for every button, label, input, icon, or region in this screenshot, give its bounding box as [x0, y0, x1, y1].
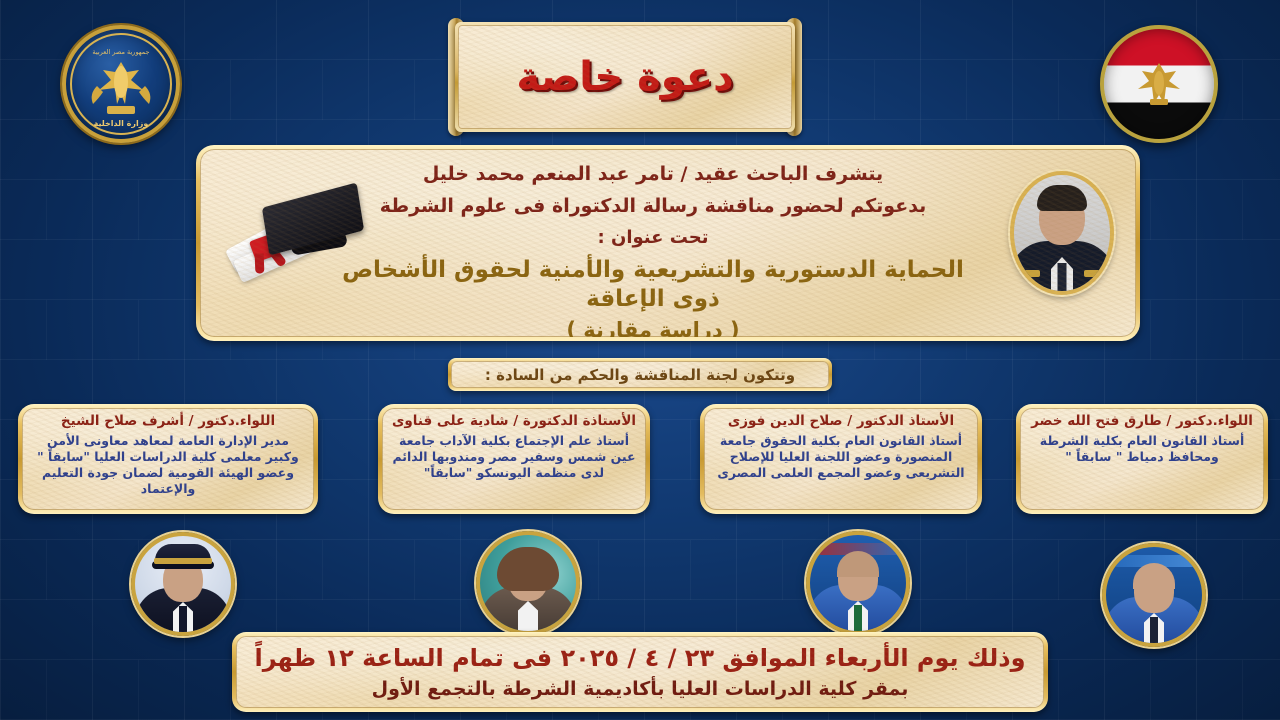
member-role: أستاذ القانون العام بكلية الشرطة ومحافظ … — [1028, 433, 1256, 465]
invitation-poster: جمهورية مصر العربية وزارة الداخلية دعوة … — [0, 0, 1280, 720]
saladin-eagle-icon — [1124, 49, 1194, 119]
committee-header-text: وتتكون لجنة المناقشة والحكم من السادة : — [485, 366, 795, 384]
invite-line-researcher: يتشرف الباحث عقيد / تامر عبد المنعم محمد… — [320, 163, 986, 187]
member-role: أستاذ علم الإجتماع بكلية الآداب جامعة عي… — [390, 433, 638, 481]
committee-header-banner: وتتكون لجنة المناقشة والحكم من السادة : — [448, 358, 832, 391]
member-portrait — [476, 531, 580, 635]
invite-line-purpose: بدعوتكم لحضور مناقشة رسالة الدكتوراة فى … — [320, 195, 986, 219]
event-date-text: وذلك يوم الأربعاء الموافق ٢٣ / ٤ / ٢٠٢٥ … — [254, 644, 1025, 672]
member-name: اللواء.دكتور / طارق فتح الله خضر — [1028, 414, 1256, 430]
event-venue-text: بمقر كلية الدراسات العليا بأكاديمية الشر… — [372, 678, 909, 700]
egypt-flag-badge — [1100, 25, 1218, 143]
member-portrait — [131, 532, 235, 636]
invite-line-under-title: تحت عنوان : — [320, 227, 986, 250]
graduation-cap-diploma-icon — [218, 185, 368, 305]
page-title: دعوة خاصة — [516, 54, 733, 100]
member-role: مدير الإدارة العامة لمعاهد معاونى الأمن … — [30, 433, 306, 497]
invitation-main-panel: يتشرف الباحث عقيد / تامر عبد المنعم محمد… — [196, 145, 1140, 341]
committee-member-card: الأستاذة الدكتورة / شادية على قناوى أستا… — [378, 404, 650, 514]
member-role: أستاذ القانون العام بكلية الحقوق جامعة ا… — [712, 433, 970, 481]
committee-member-card: اللواء.دكتور / طارق فتح الله خضر أستاذ ا… — [1016, 404, 1268, 514]
member-portrait — [806, 531, 910, 635]
researcher-portrait — [1010, 171, 1114, 295]
thesis-subtitle: ( دراسة مقارنة ) — [320, 317, 986, 338]
thesis-title: الحماية الدستورية والتشريعية والأمنية لح… — [320, 256, 986, 314]
member-name: اللواء.دكتور / أشرف صلاح الشيخ — [30, 414, 306, 430]
committee-member-card: الأستاذ الدكتور / صلاح الدين فوزى أستاذ … — [700, 404, 982, 514]
emblem-top-caption: جمهورية مصر العربية — [92, 48, 149, 56]
emblem-bottom-caption: وزارة الداخلية — [94, 119, 149, 128]
eagle-icon: جمهورية مصر العربية وزارة الداخلية — [69, 32, 173, 136]
member-name: الأستاذة الدكتورة / شادية على قناوى — [390, 414, 638, 430]
event-date-banner: وذلك يوم الأربعاء الموافق ٢٣ / ٤ / ٢٠٢٥ … — [232, 632, 1048, 712]
title-banner: دعوة خاصة — [455, 22, 795, 132]
committee-member-card: اللواء.دكتور / أشرف صلاح الشيخ مدير الإد… — [18, 404, 318, 514]
member-name: الأستاذ الدكتور / صلاح الدين فوزى — [712, 414, 970, 430]
ministry-of-interior-emblem: جمهورية مصر العربية وزارة الداخلية — [62, 25, 180, 143]
member-portrait — [1102, 543, 1206, 647]
